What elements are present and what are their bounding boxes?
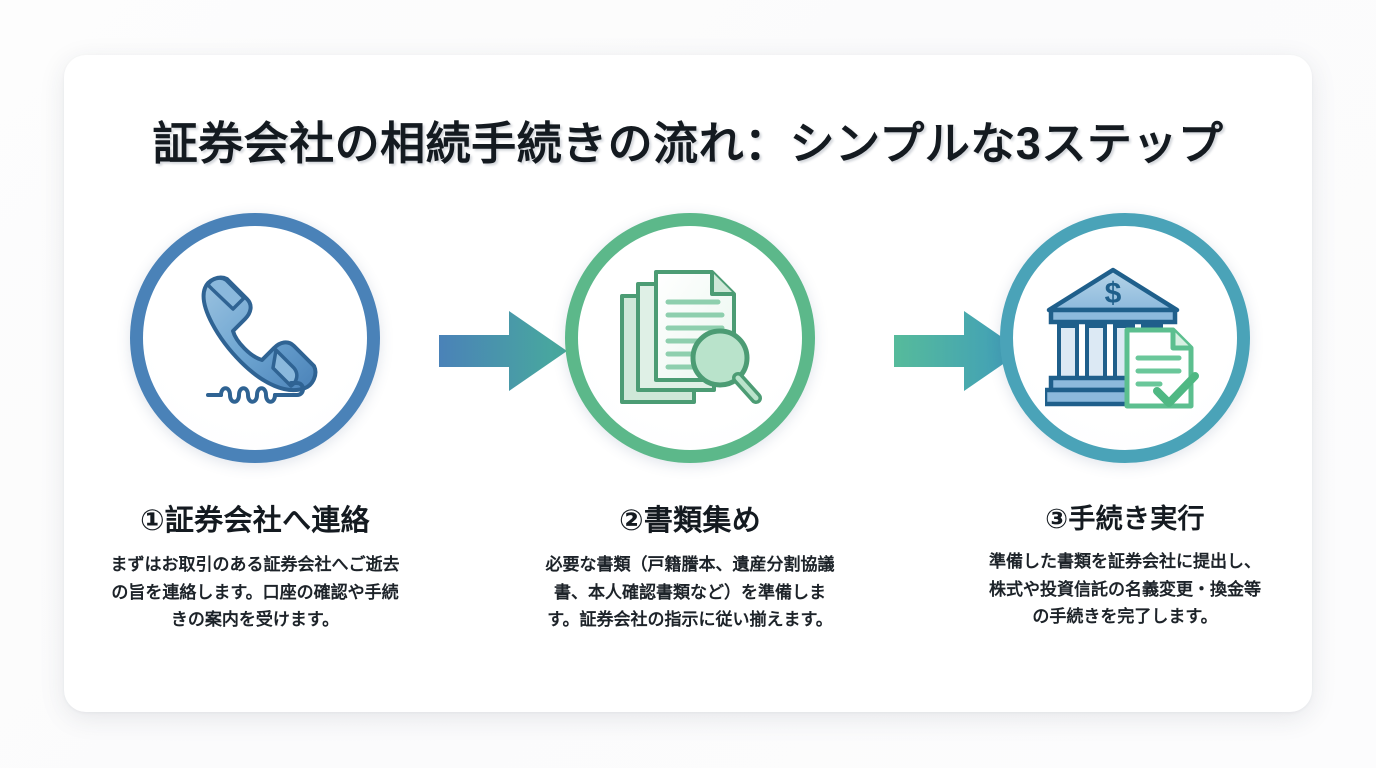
step-item-1: ①証券会社へ連絡 まずはお取引のある証券会社へご逝去の旨を連絡します。口座の確認… — [90, 213, 420, 634]
telephone-handset-icon — [175, 258, 335, 418]
step-1-circle — [130, 213, 380, 463]
step-1-description: まずはお取引のある証券会社へご逝去の旨を連絡します。口座の確認や手続きの案内を受… — [109, 551, 401, 634]
page-title: 証券会社の相続手続きの流れ：シンプルな3ステップ — [64, 107, 1312, 172]
documents-magnifier-icon — [610, 258, 770, 418]
step-1-heading: ①証券会社へ連絡 — [90, 497, 420, 539]
step-item-3: $ ③手続き実行 準 — [960, 213, 1290, 631]
content-card: 証券会社の相続手続きの流れ：シンプルな3ステップ — [64, 55, 1312, 712]
step-2-description: 必要な書類（戸籍謄本、遺産分割協議書、本人確認書類など）を準備します。証券会社の… — [544, 551, 836, 634]
steps-container: ①証券会社へ連絡 まずはお取引のある証券会社へご逝去の旨を連絡します。口座の確認… — [64, 213, 1312, 683]
step-3-circle: $ — [1000, 213, 1250, 463]
infographic-page: 証券会社の相続手続きの流れ：シンプルな3ステップ — [0, 0, 1376, 768]
bank-document-check-icon: $ — [1045, 258, 1205, 418]
step-2-circle — [565, 213, 815, 463]
svg-text:$: $ — [1105, 277, 1122, 310]
step-2-heading: ②書類集め — [525, 497, 855, 539]
step-3-description: 準備した書類を証券会社に提出し、株式や投資信託の名義変更・換金等の手続きを完了し… — [983, 548, 1267, 631]
step-3-heading: ③手続き実行 — [960, 497, 1290, 536]
step-item-2: ②書類集め 必要な書類（戸籍謄本、遺産分割協議書、本人確認書類など）を準備します… — [525, 213, 855, 634]
